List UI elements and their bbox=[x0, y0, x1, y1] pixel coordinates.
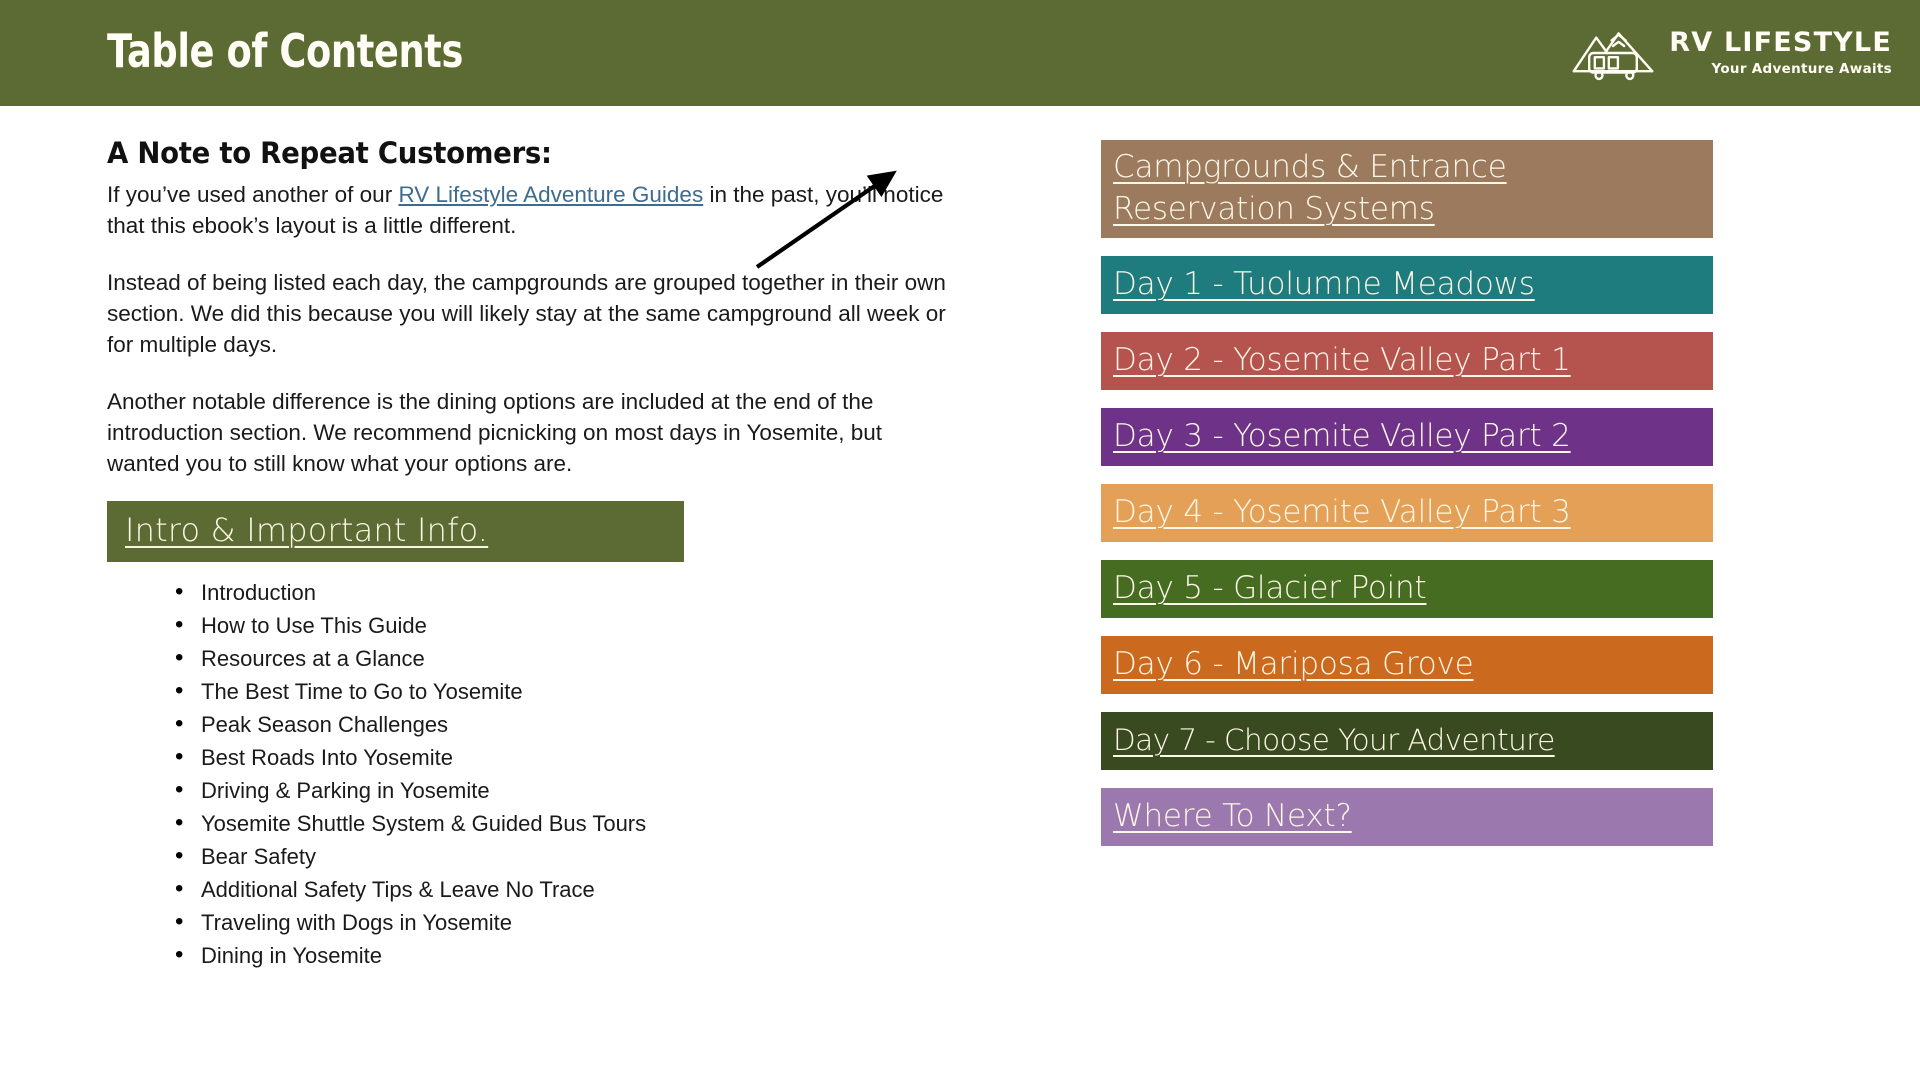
chapter-link-label: Day 1 - Tuolumne Meadows bbox=[1113, 263, 1535, 305]
chapter-link-where-to-next[interactable]: Where To Next? bbox=[1101, 788, 1713, 846]
brand-logo: RV LIFESTYLE Your Adventure Awaits bbox=[1571, 22, 1892, 84]
chapter-link-label: Day 5 - Glacier Point bbox=[1113, 567, 1426, 609]
section-link-intro-important-info[interactable]: Intro & Important Info. bbox=[107, 501, 684, 562]
chapter-link-campgrounds[interactable]: Campgrounds & Entrance Reservation Syste… bbox=[1101, 140, 1713, 238]
list-item: Best Roads Into Yosemite bbox=[169, 741, 967, 774]
left-column: A Note to Repeat Customers: If you’ve us… bbox=[107, 136, 967, 972]
list-item: Driving & Parking in Yosemite bbox=[169, 774, 967, 807]
page-title: Table of Contents bbox=[107, 26, 463, 77]
paragraph-1: If you’ve used another of our RV Lifesty… bbox=[107, 179, 952, 241]
chapter-link-label: Campgrounds & Entrance Reservation Syste… bbox=[1113, 146, 1507, 230]
section-link-label: Intro & Important Info. bbox=[125, 511, 488, 549]
intro-topics-list: Introduction How to Use This Guide Resou… bbox=[169, 576, 967, 972]
paragraph-1-before: If you’ve used another of our bbox=[107, 182, 398, 207]
paragraph-3: Another notable difference is the dining… bbox=[107, 386, 952, 479]
note-heading: A Note to Repeat Customers: bbox=[107, 136, 924, 170]
chapter-link-day-5[interactable]: Day 5 - Glacier Point bbox=[1101, 560, 1713, 618]
chapter-link-label: Day 7 - Choose Your Adventure bbox=[1113, 719, 1555, 761]
list-item: Resources at a Glance bbox=[169, 642, 967, 675]
list-item: Dining in Yosemite bbox=[169, 939, 967, 972]
chapter-link-day-2[interactable]: Day 2 - Yosemite Valley Part 1 bbox=[1101, 332, 1713, 390]
list-item: Bear Safety bbox=[169, 840, 967, 873]
mountains-rv-logo-icon bbox=[1571, 22, 1655, 84]
chapter-links-column: Campgrounds & Entrance Reservation Syste… bbox=[1101, 140, 1713, 864]
list-item: Introduction bbox=[169, 576, 967, 609]
brand-text-block: RV LIFESTYLE Your Adventure Awaits bbox=[1669, 29, 1892, 76]
chapter-link-label: Day 4 - Yosemite Valley Part 3 bbox=[1113, 491, 1571, 533]
chapter-link-day-1[interactable]: Day 1 - Tuolumne Meadows bbox=[1101, 256, 1713, 314]
rv-lifestyle-adventure-guides-link[interactable]: RV Lifestyle Adventure Guides bbox=[398, 182, 703, 207]
brand-tagline: Your Adventure Awaits bbox=[1712, 61, 1892, 77]
chapter-link-label: Day 6 - Mariposa Grove bbox=[1113, 643, 1474, 685]
chapter-link-label: Day 2 - Yosemite Valley Part 1 bbox=[1113, 339, 1571, 381]
list-item: Additional Safety Tips & Leave No Trace bbox=[169, 873, 967, 906]
page-header: Table of Contents RV LIFESTYLE bbox=[0, 0, 1920, 106]
brand-name: RV LIFESTYLE bbox=[1669, 29, 1892, 57]
paragraph-2: Instead of being listed each day, the ca… bbox=[107, 267, 952, 360]
chapter-link-label: Day 3 - Yosemite Valley Part 2 bbox=[1113, 415, 1571, 457]
chapter-link-day-7[interactable]: Day 7 - Choose Your Adventure bbox=[1101, 712, 1713, 770]
list-item: Traveling with Dogs in Yosemite bbox=[169, 906, 967, 939]
list-item: How to Use This Guide bbox=[169, 609, 967, 642]
chapter-link-day-4[interactable]: Day 4 - Yosemite Valley Part 3 bbox=[1101, 484, 1713, 542]
list-item: Peak Season Challenges bbox=[169, 708, 967, 741]
list-item: Yosemite Shuttle System & Guided Bus Tou… bbox=[169, 807, 967, 840]
chapter-link-day-3[interactable]: Day 3 - Yosemite Valley Part 2 bbox=[1101, 408, 1713, 466]
chapter-link-label: Where To Next? bbox=[1113, 795, 1352, 837]
table-of-contents-page: Table of Contents RV LIFESTYLE bbox=[0, 0, 1920, 1080]
chapter-link-day-6[interactable]: Day 6 - Mariposa Grove bbox=[1101, 636, 1713, 694]
list-item: The Best Time to Go to Yosemite bbox=[169, 675, 967, 708]
